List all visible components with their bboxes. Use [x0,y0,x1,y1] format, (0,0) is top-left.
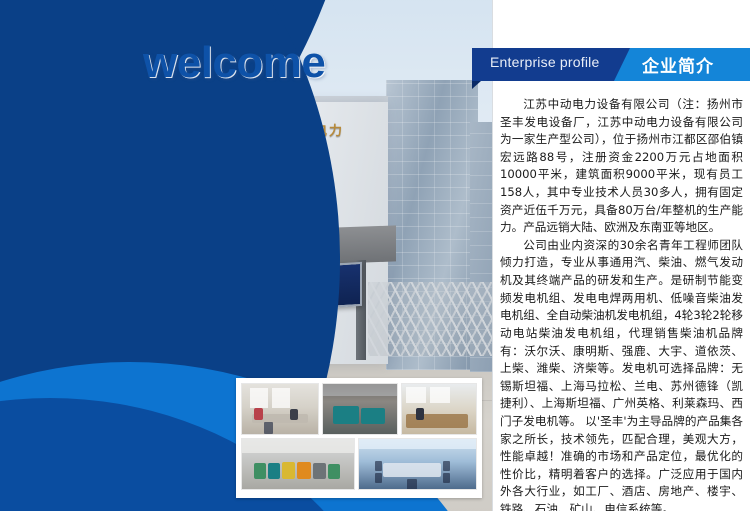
generator-workshop-photo [322,383,398,435]
building-roof-sign: 中动电力 [284,120,344,139]
generator-warehouse-photo [241,438,355,490]
welcome-heading: welcome [143,38,325,88]
profile-paragraph-2: 公司由业内资深的30余名青年工程师团队倾力打造，专业从事通用汽、柴油、燃气发动机… [500,237,743,511]
collage-row-bottom [241,438,477,490]
company-profile-banner: 中动电力 江苏中动电力设备有限公司 Zhongdong Power Equipm… [0,0,750,511]
hero-image: 中动电力 江苏中动电力设备有限公司 Zhongdong Power Equipm… [0,0,492,511]
retractable-gate [368,282,492,356]
collage-row-top [241,383,477,435]
profile-body: 江苏中动电力设备有限公司（注：扬州市圣丰发电设备厂，江苏中动电力设备有限公司为一… [500,96,743,511]
photo-collage [236,378,482,498]
profile-paragraph-1: 江苏中动电力设备有限公司（注：扬州市圣丰发电设备厂，江苏中动电力设备有限公司为一… [500,96,743,237]
left-glass-tower [82,142,128,354]
banner-english-label: Enterprise profile [490,54,599,70]
conference-room-photo [358,438,477,490]
banner-chinese-label: 企业简介 [642,52,714,77]
section-banner: Enterprise profile 企业简介 [472,48,750,81]
office-meeting-photo [241,383,319,435]
office-interior-photo [401,383,477,435]
banner-ribbon-tail [472,81,481,89]
profile-panel: Enterprise profile 企业简介 江苏中动电力设备有限公司（注：扬… [492,0,750,511]
